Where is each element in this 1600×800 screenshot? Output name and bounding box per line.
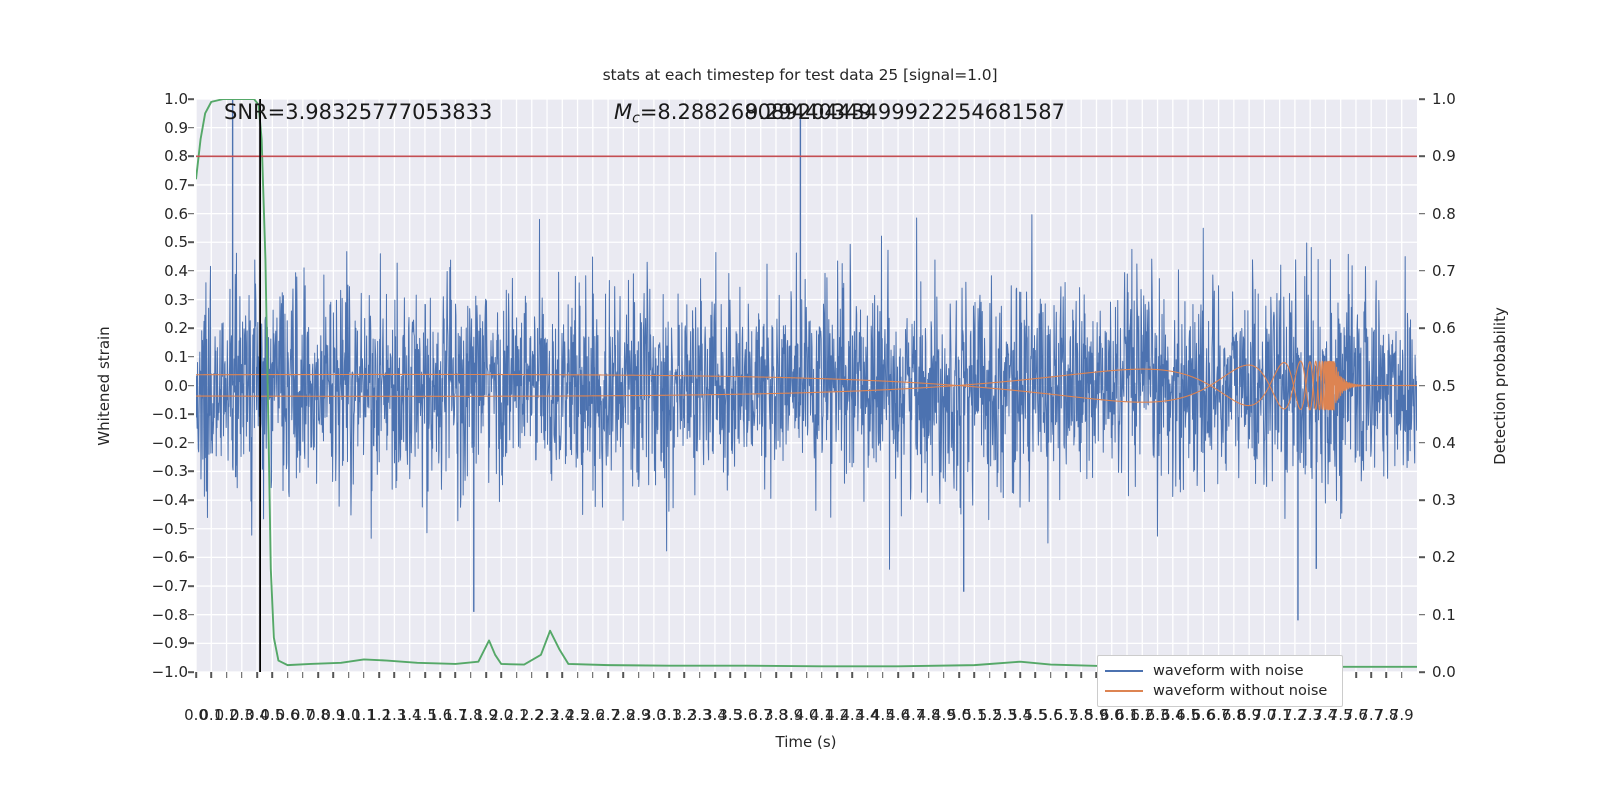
y-axis-left-tick-label: 0.0 xyxy=(164,377,188,395)
y-axis-left-tick-label: 0.5 xyxy=(164,233,188,251)
x-axis-tick-mark xyxy=(562,672,564,678)
x-axis-tick-mark xyxy=(470,672,472,678)
x-axis-tick-mark xyxy=(684,672,686,678)
legend-label-waveform-with-noise: waveform with noise xyxy=(1153,663,1304,679)
y-axis-left-tick-mark xyxy=(188,528,194,530)
y-axis-right-tick-mark xyxy=(1419,499,1425,501)
y-axis-left-tick-mark xyxy=(188,213,194,215)
x-axis-tick-mark xyxy=(1050,672,1052,678)
x-axis-tick-mark xyxy=(394,672,396,678)
y-axis-left-tick-mark xyxy=(188,184,194,186)
x-axis-tick-mark xyxy=(226,672,228,678)
y-axis-left-tick-mark xyxy=(188,413,194,415)
x-axis-tick-mark xyxy=(531,672,533,678)
page-title: stats at each timestep for test data 25 … xyxy=(0,66,1600,84)
y-axis-left-tick-mark xyxy=(188,471,194,473)
data-series-layer xyxy=(196,99,1417,672)
y-axis-left-tick-label: −0.9 xyxy=(152,634,188,652)
x-axis-tick-mark xyxy=(974,672,976,678)
y-axis-left-tick-mark xyxy=(188,356,194,358)
y-axis-right-tick-label: 0.4 xyxy=(1432,434,1456,452)
y-axis-right-tick-label: 0.8 xyxy=(1432,205,1456,223)
legend-swatch-orange xyxy=(1105,690,1143,692)
y-axis-left-tick-mark xyxy=(188,643,194,645)
legend-label-waveform-without-noise: waveform without noise xyxy=(1153,683,1327,699)
y-axis-left-tick-mark xyxy=(188,585,194,587)
x-axis-tick-mark xyxy=(1401,672,1403,678)
y-axis-right-tick-label: 0.5 xyxy=(1432,377,1456,395)
x-axis-tick-mark xyxy=(836,672,838,678)
y-axis-left-tick-mark xyxy=(188,385,194,387)
x-axis-tick-mark xyxy=(729,672,731,678)
x-axis-tick-mark xyxy=(653,672,655,678)
x-axis-tick-mark xyxy=(1370,672,1372,678)
x-axis-tick-mark xyxy=(897,672,899,678)
x-axis-tick-mark xyxy=(363,672,365,678)
legend-item-waveform-with-noise[interactable]: waveform with noise xyxy=(1105,661,1333,681)
y-axis-left-tick-label: 0.3 xyxy=(164,291,188,309)
x-axis-tick-mark xyxy=(546,672,548,678)
y-axis-left-tick-label: 0.2 xyxy=(164,319,188,337)
x-axis-tick-mark xyxy=(302,672,304,678)
y-axis-left-tick-label: −0.4 xyxy=(152,491,188,509)
annotation-snr: SNR=3.98325777053833 xyxy=(224,100,492,124)
legend: waveform with noise waveform without noi… xyxy=(1097,655,1343,707)
x-axis-tick-mark xyxy=(699,672,701,678)
x-axis-tick-mark xyxy=(592,672,594,678)
y-axis-right-tick-label: 0.6 xyxy=(1432,319,1456,337)
x-axis-tick-mark xyxy=(668,672,670,678)
y-axis-left-tick-mark xyxy=(188,299,194,301)
y-axis-right-title: Detection probability xyxy=(1491,307,1509,465)
x-axis-tick-mark xyxy=(485,672,487,678)
x-axis-tick-mark xyxy=(1004,672,1006,678)
y-axis-left-tick-mark xyxy=(188,557,194,559)
x-axis-tick-mark xyxy=(1386,672,1388,678)
y-axis-right-tick-mark xyxy=(1419,385,1425,387)
x-axis-tick-mark xyxy=(607,672,609,678)
plot-area xyxy=(196,99,1417,672)
annotation-chirp-mass-overlap: 9.29440349 xyxy=(745,100,872,124)
y-axis-left-tick-mark xyxy=(188,127,194,129)
y-axis-right-tick-mark xyxy=(1419,327,1425,329)
x-axis-tick-mark xyxy=(317,672,319,678)
y-axis-right-tick-label: 0.1 xyxy=(1432,606,1456,624)
y-axis-left-tick-label: −1.0 xyxy=(152,663,188,681)
y-axis-left-tick-mark xyxy=(188,270,194,272)
y-axis-left-tick-label: 0.9 xyxy=(164,119,188,137)
x-axis-tick-mark xyxy=(455,672,457,678)
y-axis-right-tick-label: 0.3 xyxy=(1432,491,1456,509)
legend-swatch-blue xyxy=(1105,670,1143,672)
x-axis-tick-mark xyxy=(210,672,212,678)
x-axis-tick-mark xyxy=(760,672,762,678)
y-axis-left-tick-label: −0.8 xyxy=(152,606,188,624)
x-axis-tick-mark xyxy=(287,672,289,678)
y-axis-left-tick-mark xyxy=(188,671,194,673)
x-axis-tick-mark xyxy=(851,672,853,678)
chirp-mass-symbol: M xyxy=(614,100,632,124)
x-axis-tick-mark xyxy=(439,672,441,678)
y-axis-right-tick-mark xyxy=(1419,557,1425,559)
y-axis-right-tick-mark xyxy=(1419,156,1425,158)
x-axis-tick-mark xyxy=(714,672,716,678)
matplotlib-figure: stats at each timestep for test data 25 … xyxy=(0,0,1600,800)
y-axis-left-tick-label: −0.7 xyxy=(152,577,188,595)
y-axis-left-tick-mark xyxy=(188,98,194,100)
x-axis-tick-label: 7.9 xyxy=(1390,706,1414,724)
x-axis-tick-mark xyxy=(1035,672,1037,678)
x-axis-title: Time (s) xyxy=(776,733,837,751)
x-axis-tick-mark xyxy=(745,672,747,678)
x-axis-tick-mark xyxy=(638,672,640,678)
x-axis-tick-mark xyxy=(989,672,991,678)
y-axis-right-tick-label: 0.9 xyxy=(1432,147,1456,165)
y-axis-left-tick-label: 0.6 xyxy=(164,205,188,223)
y-axis-left-tick-label: −0.5 xyxy=(152,520,188,538)
x-axis-tick-mark xyxy=(867,672,869,678)
y-axis-left-tick-mark xyxy=(188,442,194,444)
y-axis-left-tick-label: 0.8 xyxy=(164,147,188,165)
x-axis-tick-mark xyxy=(928,672,930,678)
y-axis-right-tick-label: 1.0 xyxy=(1432,90,1456,108)
y-axis-left-tick-label: −0.3 xyxy=(152,462,188,480)
x-axis-tick-mark xyxy=(424,672,426,678)
y-axis-right-tick-mark xyxy=(1419,671,1425,673)
x-axis-tick-mark xyxy=(409,672,411,678)
y-axis-right-tick-mark xyxy=(1419,614,1425,616)
y-axis-right-tick-mark xyxy=(1419,442,1425,444)
chirp-mass-subscript: c xyxy=(632,111,640,127)
x-axis-tick-mark xyxy=(378,672,380,678)
x-axis-tick-mark xyxy=(1080,672,1082,678)
y-axis-left-tick-label: 0.1 xyxy=(164,348,188,366)
x-axis-tick-mark xyxy=(790,672,792,678)
y-axis-left-tick-label: 1.0 xyxy=(164,90,188,108)
x-axis-tick-mark xyxy=(516,672,518,678)
y-axis-left-tick-label: 0.7 xyxy=(164,176,188,194)
y-axis-left-tick-label: −0.1 xyxy=(152,405,188,423)
y-axis-left-tick-label: −0.6 xyxy=(152,548,188,566)
x-axis-tick-mark xyxy=(241,672,243,678)
y-axis-left-tick-label: 0.4 xyxy=(164,262,188,280)
y-axis-left-tick-mark xyxy=(188,499,194,501)
y-axis-right-tick-mark xyxy=(1419,213,1425,215)
x-axis-tick-mark xyxy=(195,672,197,678)
x-axis-tick-mark xyxy=(775,672,777,678)
x-axis-tick-mark xyxy=(821,672,823,678)
x-axis-tick-mark xyxy=(256,672,258,678)
x-axis-tick-mark xyxy=(806,672,808,678)
x-axis-tick-mark xyxy=(943,672,945,678)
x-axis-tick-mark xyxy=(348,672,350,678)
x-axis-tick-mark xyxy=(882,672,884,678)
y-axis-right-tick-label: 0.7 xyxy=(1432,262,1456,280)
x-axis-tick-mark xyxy=(623,672,625,678)
y-axis-right-tick-label: 0.0 xyxy=(1432,663,1456,681)
y-axis-left-title: Whitened strain xyxy=(95,326,113,445)
y-axis-left-tick-mark xyxy=(188,156,194,158)
y-axis-right-tick-mark xyxy=(1419,270,1425,272)
y-axis-left-tick-mark xyxy=(188,327,194,329)
legend-item-waveform-without-noise[interactable]: waveform without noise xyxy=(1105,681,1333,701)
x-axis-tick-mark xyxy=(1019,672,1021,678)
y-axis-left-tick-mark xyxy=(188,241,194,243)
x-axis-tick-mark xyxy=(500,672,502,678)
x-axis-tick-mark xyxy=(333,672,335,678)
x-axis-tick-mark xyxy=(1065,672,1067,678)
x-axis-tick-mark xyxy=(272,672,274,678)
y-axis-left-tick-label: −0.2 xyxy=(152,434,188,452)
y-axis-right-tick-mark xyxy=(1419,98,1425,100)
y-axis-left-tick-mark xyxy=(188,614,194,616)
x-axis-tick-mark xyxy=(913,672,915,678)
x-axis-tick-mark xyxy=(958,672,960,678)
x-axis-tick-mark xyxy=(1355,672,1357,678)
x-axis-tick-mark xyxy=(577,672,579,678)
y-axis-right-tick-label: 0.2 xyxy=(1432,548,1456,566)
